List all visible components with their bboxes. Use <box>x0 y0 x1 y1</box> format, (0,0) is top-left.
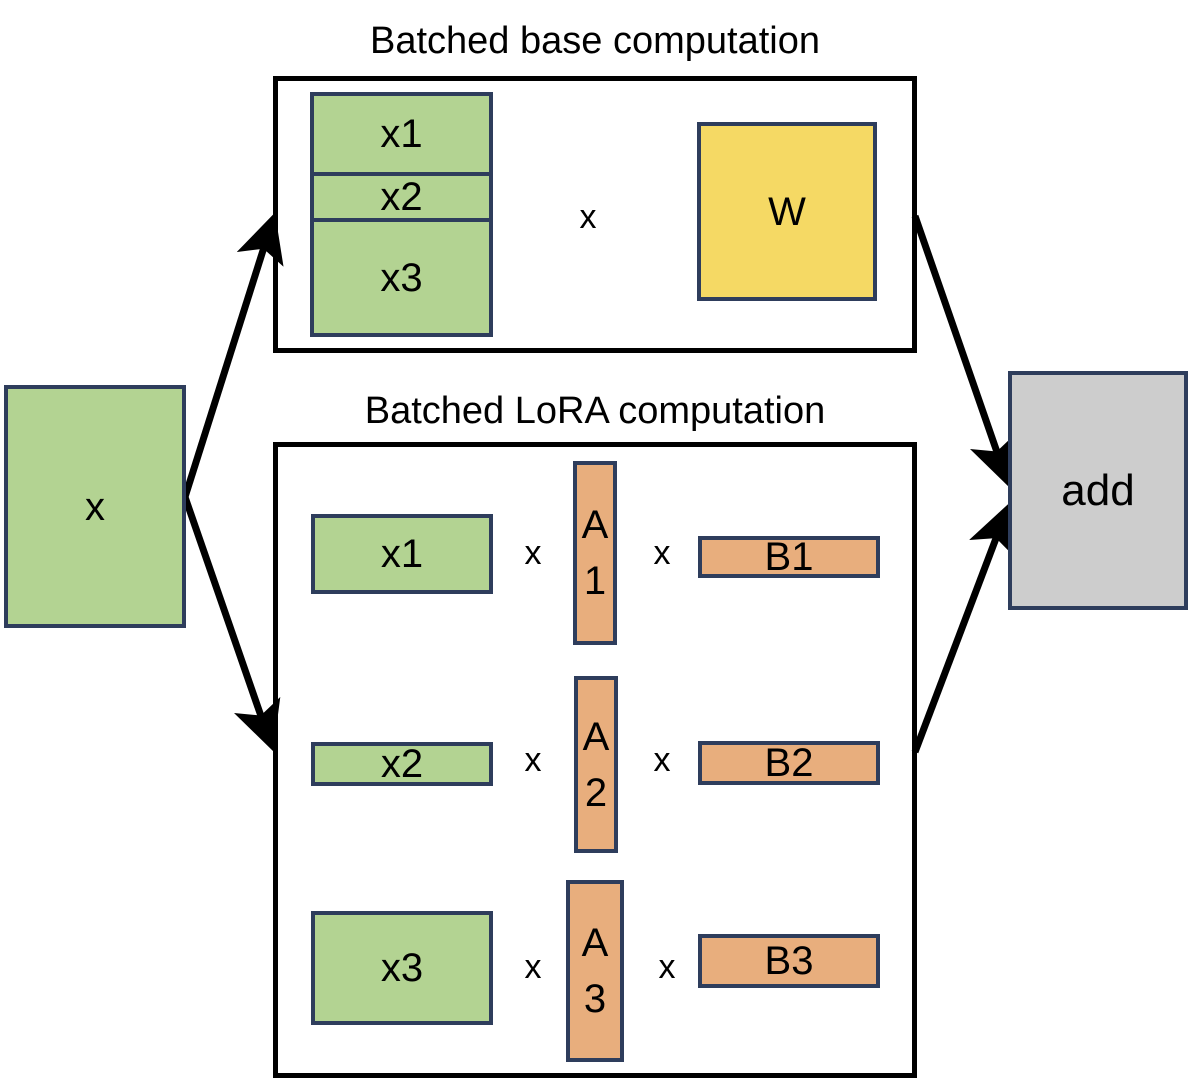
lora-row-1-matrix-a-index: 1 <box>584 561 606 601</box>
lora-row-2-multiply-operator-2: x <box>640 743 684 777</box>
diagram-canvas: x Batched base computation x1 x2 x3 x W … <box>0 0 1191 1083</box>
base-stack-tile-x1[interactable]: x1 <box>310 92 493 176</box>
lora-row-3-multiply-operator-2: x <box>645 950 689 984</box>
lora-row-1-matrix-a-letter: A <box>582 505 609 545</box>
lora-row-2-activation-tile[interactable]: x2 <box>311 742 493 786</box>
base-weight-label-w: W <box>768 192 806 232</box>
lora-row-3-matrix-a-letter: A <box>582 923 609 963</box>
base-stack-tile-x2[interactable]: x2 <box>310 176 493 218</box>
lora-row-3-matrix-b-label: B3 <box>765 941 814 981</box>
lora-row-2-matrix-b-label: B2 <box>765 743 814 783</box>
base-multiply-operator: x <box>563 200 613 234</box>
lora-row-2-multiply-operator-1: x <box>511 743 555 777</box>
lora-row-2-matrix-b-tile[interactable]: B2 <box>698 741 880 785</box>
lora-computation-title: Batched LoRA computation <box>273 392 917 430</box>
lora-row-3-matrix-a-tile[interactable]: A 3 <box>566 880 624 1062</box>
base-stack-label-x3: x3 <box>380 258 422 298</box>
arrow-base-to-add <box>915 216 1006 478</box>
base-computation-title: Batched base computation <box>273 22 917 60</box>
lora-row-2-activation-label: x2 <box>381 744 423 784</box>
arrow-input-to-lora <box>185 497 270 742</box>
lora-row-2-matrix-a-index: 2 <box>585 773 607 813</box>
lora-row-2-matrix-a-letter: A <box>583 717 610 757</box>
base-weight-tile-w[interactable]: W <box>697 122 877 301</box>
input-activation-block[interactable]: x <box>4 385 186 628</box>
lora-row-3-multiply-operator-1: x <box>511 950 555 984</box>
arrow-input-to-base <box>185 222 272 497</box>
lora-row-3-matrix-b-tile[interactable]: B3 <box>698 934 880 988</box>
lora-row-3-activation-label: x3 <box>381 948 423 988</box>
lora-row-1-matrix-b-tile[interactable]: B1 <box>698 536 880 578</box>
base-stack-label-x1: x1 <box>380 114 422 154</box>
input-activation-label: x <box>85 487 105 527</box>
output-add-block[interactable]: add <box>1008 371 1188 610</box>
lora-row-1-matrix-b-label: B1 <box>765 537 814 577</box>
lora-row-3-activation-tile[interactable]: x3 <box>311 911 493 1025</box>
output-add-label: add <box>1061 469 1134 513</box>
base-stack-tile-x3[interactable]: x3 <box>310 218 493 337</box>
base-stack-label-x2: x2 <box>380 177 422 217</box>
arrow-lora-to-add <box>915 512 1006 752</box>
lora-row-1-activation-tile[interactable]: x1 <box>311 514 493 594</box>
lora-row-1-activation-label: x1 <box>381 534 423 574</box>
lora-row-1-multiply-operator-2: x <box>640 536 684 570</box>
lora-row-3-matrix-a-index: 3 <box>584 979 606 1019</box>
lora-row-1-multiply-operator-1: x <box>511 536 555 570</box>
lora-row-1-matrix-a-tile[interactable]: A 1 <box>573 461 617 645</box>
lora-row-2-matrix-a-tile[interactable]: A 2 <box>574 676 618 853</box>
